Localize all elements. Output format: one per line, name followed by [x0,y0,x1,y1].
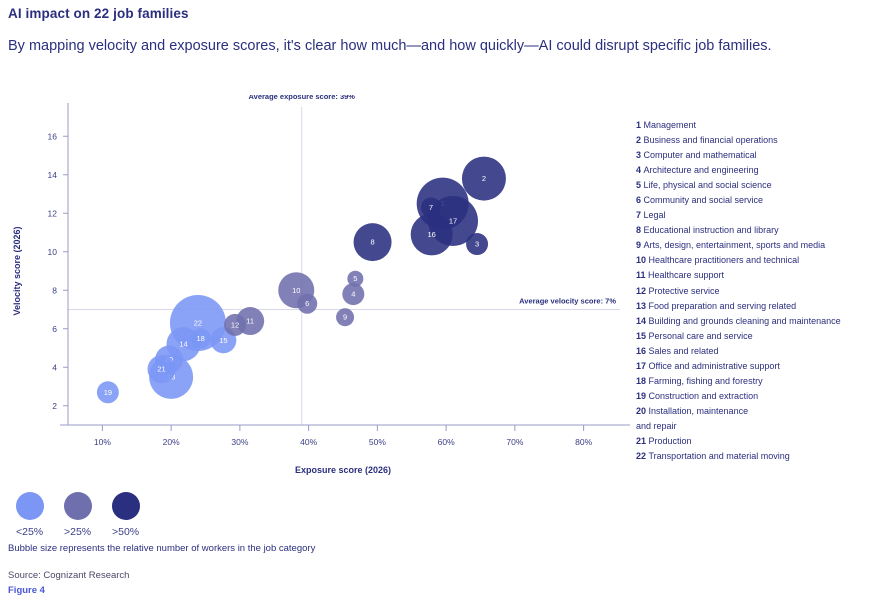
bubble-label: 9 [343,313,347,322]
y-tick-label: 14 [48,170,58,180]
color-swatch [112,492,140,520]
legend-item-3: 3 Computer and mathematical [636,148,891,163]
legend-item-number: 1 [636,120,644,130]
legend-item-19: 19 Construction and extraction [636,389,891,404]
bubble-6[interactable]: 6 [297,294,317,314]
y-tick-label: 10 [48,247,58,257]
legend-item-label: Food preparation and serving related [649,301,797,311]
legend-item-label: Arts, design, entertainment, sports and … [644,240,826,250]
legend-item-5: 5 Life, physical and social science [636,178,891,193]
legend-item-label: Farming, fishing and forestry [649,376,763,386]
bubble-label: 18 [197,334,205,343]
bubble-label: 21 [157,365,165,374]
legend-item-label: Architecture and engineering [644,165,759,175]
legend-item-number: 3 [636,150,644,160]
bubble-5[interactable]: 5 [347,271,363,287]
y-tick-label: 2 [52,401,57,411]
x-tick-label: 60% [438,437,455,447]
color-swatch-label: >25% [64,526,92,538]
bubble-8[interactable]: 8 [354,223,392,261]
bubble-label: 17 [449,216,457,225]
avg-exposure-label: Average exposure score: 39% [249,95,356,101]
page-title: AI impact on 22 job families [8,6,189,21]
bubble-12[interactable]: 12 [224,314,246,336]
legend-item-2: 2 Business and financial operations [636,133,891,148]
legend-item-22: 22 Transportation and material moving [636,449,891,464]
legend-item-number: 10 [636,255,649,265]
legend-item-14: 14 Building and grounds cleaning and mai… [636,314,891,329]
legend-item-17: 17 Office and administrative support [636,359,891,374]
bubble-label: 11 [246,317,254,326]
legend-item-13: 13 Food preparation and serving related [636,299,891,314]
bubble-label: 15 [219,336,227,345]
bubble-label: 16 [428,230,436,239]
legend-item-20: 20 Installation, maintenance [636,404,891,419]
legend-item-label: Healthcare support [648,270,724,280]
bubble-label: 19 [104,388,112,397]
legend-item-number: 19 [636,391,649,401]
legend-item-number: 4 [636,165,644,175]
bubble-9[interactable]: 9 [336,308,354,326]
legend-item-1: 1 Management [636,118,891,133]
chart-svg: 24681012141610%20%30%40%50%60%70%80% 221… [0,95,640,495]
bubble-label: 14 [179,340,187,349]
color-swatch-label: <25% [16,526,44,538]
color-swatch-label: >50% [112,526,140,538]
bubble-label: 5 [353,274,357,283]
bubble-2[interactable]: 2 [462,157,506,201]
legend-item-10: 10 Healthcare practitioners and technica… [636,253,891,268]
legend-item-number: 8 [636,225,644,235]
legend-item-number: 7 [636,210,644,220]
legend-item-15: 15 Personal care and service [636,329,891,344]
legend-item-label: Personal care and service [649,331,753,341]
bubble-label: 4 [351,290,355,299]
legend-item-21: 21 Production [636,434,891,449]
legend-item-label: Transportation and material moving [649,451,790,461]
bubble-label: 7 [429,203,433,212]
y-tick-label: 6 [52,324,57,334]
legend-item-number: 16 [636,346,649,356]
x-tick-label: 40% [300,437,317,447]
legend-item-label: Community and social service [644,195,764,205]
color-legend-group-1: >25% [64,492,92,538]
bubble-size-note: Bubble size represents the relative numb… [8,543,315,554]
legend-item-12: 12 Protective service [636,284,891,299]
x-tick-label: 80% [575,437,592,447]
bubble-label: 2 [482,174,486,183]
y-tick-label: 8 [52,285,57,295]
legend-item-number: 15 [636,331,649,341]
x-tick-label: 70% [506,437,523,447]
legend-item-number: 5 [636,180,644,190]
legend-item-number: 12 [636,286,649,296]
legend-item-label: Life, physical and social science [644,180,772,190]
legend-item-9: 9 Arts, design, entertainment, sports an… [636,238,891,253]
figure-number: Figure 4 [8,585,45,596]
chart-ticks: 24681012141610%20%30%40%50%60%70%80% [48,131,593,447]
legend-item-number: 2 [636,135,644,145]
source-line: Source: Cognizant Research [8,570,129,581]
y-tick-label: 16 [48,131,58,141]
legend-item-label: Business and financial operations [644,135,778,145]
legend-item-number: 13 [636,301,649,311]
x-tick-label: 30% [231,437,248,447]
legend-item-label: Healthcare practitioners and technical [649,255,800,265]
legend-item-label: Legal [644,210,666,220]
bubble-21[interactable]: 21 [148,355,176,383]
legend-item-number: 17 [636,361,649,371]
y-tick-label: 12 [48,208,58,218]
bubble-label: 12 [231,320,239,329]
legend-item-number: 20 [636,406,649,416]
legend-item-label: Installation, maintenance [649,406,749,416]
bubble-7[interactable]: 7 [421,197,441,217]
legend-item-number: 11 [636,270,648,280]
legend-item-number: 6 [636,195,644,205]
x-tick-label: 20% [163,437,180,447]
x-tick-label: 50% [369,437,386,447]
legend-item-label: Construction and extraction [649,391,759,401]
legend-item-label: and repair [636,421,677,431]
legend-item-6: 6 Community and social service [636,193,891,208]
bubble-label: 3 [475,240,479,249]
bubble-label: 8 [370,238,374,247]
bubble-chart: 24681012141610%20%30%40%50%60%70%80% 221… [0,95,640,495]
legend-item-label: Educational instruction and library [644,225,779,235]
job-family-legend: 1 Management2 Business and financial ope… [636,118,891,464]
color-legend-group-0: <25% [16,492,44,538]
legend-item-label: Computer and mathematical [644,150,757,160]
bubble-label: 6 [305,299,309,308]
legend-item-label: Sales and related [649,346,719,356]
color-swatch [16,492,44,520]
x-axis-title: Exposure score (2026) [295,465,391,475]
legend-item-number: 21 [636,436,649,446]
legend-item-16: 16 Sales and related [636,344,891,359]
y-axis-title: Velocity score (2026) [12,226,22,315]
color-legend-group-2: >50% [112,492,140,538]
legend-item-continuation: and repair [636,419,891,434]
bubble-18[interactable]: 18 [191,328,211,348]
legend-item-number: 18 [636,376,649,386]
legend-item-number: 14 [636,316,649,326]
chart-axes [60,103,630,425]
legend-item-label: Production [649,436,692,446]
y-tick-label: 4 [52,362,57,372]
legend-item-7: 7 Legal [636,208,891,223]
legend-item-number: 22 [636,451,649,461]
x-tick-label: 10% [94,437,111,447]
legend-item-label: Protective service [649,286,720,296]
legend-item-number: 9 [636,240,644,250]
legend-item-label: Building and grounds cleaning and mainte… [649,316,841,326]
legend-item-4: 4 Architecture and engineering [636,163,891,178]
bubble-label: 10 [292,286,300,295]
legend-item-18: 18 Farming, fishing and forestry [636,374,891,389]
avg-velocity-label: Average velocity score: 7% [519,297,616,306]
page-subtitle: By mapping velocity and exposure scores,… [8,38,772,54]
bubble-3[interactable]: 3 [466,233,488,255]
legend-item-11: 11 Healthcare support [636,268,891,283]
bubble-19[interactable]: 19 [97,381,119,403]
legend-item-label: Management [644,120,697,130]
bubble-label: 22 [194,318,202,327]
bubble-16[interactable]: 16 [411,213,453,255]
legend-item-label: Office and administrative support [649,361,780,371]
legend-item-8: 8 Educational instruction and library [636,223,891,238]
color-swatch [64,492,92,520]
